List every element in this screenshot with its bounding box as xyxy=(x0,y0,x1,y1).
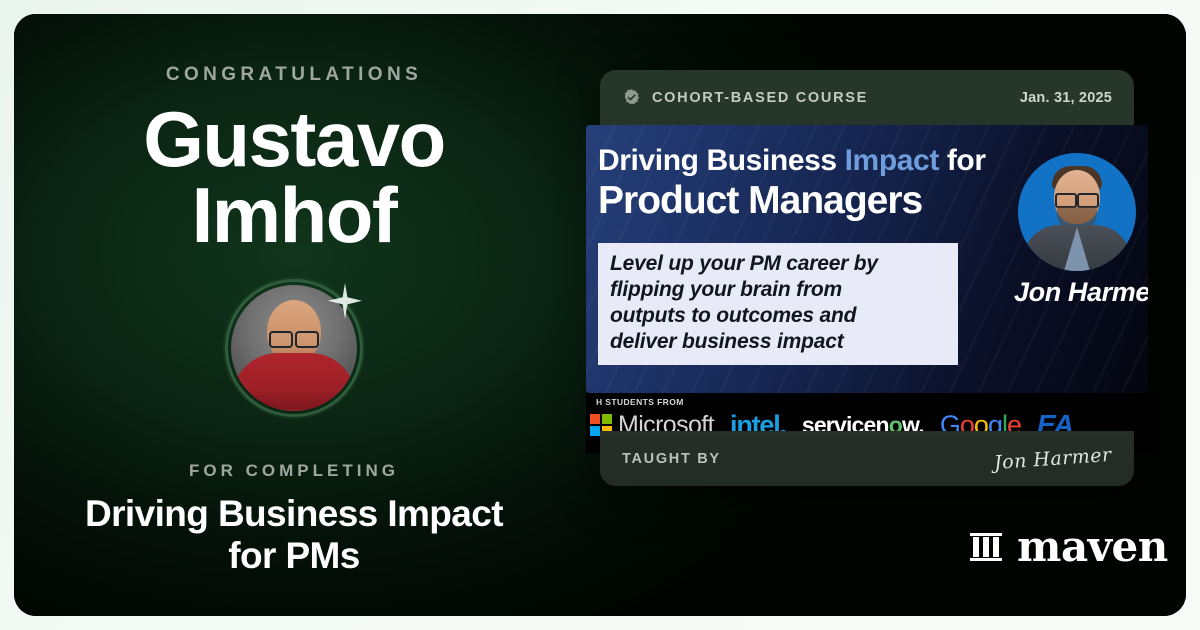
thumbnail-title: Driving Business Impact for Product Mana… xyxy=(598,145,1028,223)
thumbnail-instructor: Jon Harmer xyxy=(1014,153,1140,308)
thumbnail-subtitle-line: deliver business impact xyxy=(610,329,948,355)
taught-by-label: TAUGHT BY xyxy=(622,451,721,467)
course-card-footer: TAUGHT BY Jon Harmer xyxy=(600,431,1134,486)
course-date: Jan. 31, 2025 xyxy=(1020,90,1112,106)
thumbnail-title-accent: Impact xyxy=(845,144,939,177)
thumbnail-title-part1: Driving Business xyxy=(598,144,845,177)
recipient-avatar xyxy=(225,279,363,417)
maven-columns-icon xyxy=(969,530,1003,564)
instructor-name: Jon Harmer xyxy=(1014,277,1140,308)
thumbnail-title-part2: for xyxy=(939,144,986,177)
thumbnail-subtitle-line: outputs to outcomes and xyxy=(610,303,948,329)
congratulations-label: CONGRATULATIONS xyxy=(166,64,422,86)
instructor-signature: Jon Harmer xyxy=(994,443,1113,473)
certificate-left-panel: CONGRATULATIONS Gustavo Imhof FOR COMPLE… xyxy=(14,14,574,616)
maven-wordmark: maven xyxy=(1017,526,1168,568)
avatar-ring xyxy=(225,279,363,417)
thumbnail-title-line2: Product Managers xyxy=(598,180,1028,222)
course-thumbnail: Driving Business Impact for Product Mana… xyxy=(586,125,1148,393)
instructor-photo xyxy=(1018,153,1136,271)
course-card-header: COHORT-BASED COURSE Jan. 31, 2025 xyxy=(600,70,1134,125)
maven-logo[interactable]: maven xyxy=(969,526,1168,568)
thumbnail-subtitle: Level up your PM career by flipping your… xyxy=(598,243,958,365)
course-preview-card[interactable]: COHORT-BASED COURSE Jan. 31, 2025 Drivin… xyxy=(600,70,1134,486)
for-completing-label: FOR COMPLETING xyxy=(189,461,399,481)
course-kicker: COHORT-BASED COURSE xyxy=(652,90,868,106)
instructor-glasses-shape xyxy=(1055,193,1099,204)
thumbnail-subtitle-line: Level up your PM career by xyxy=(610,251,948,277)
thumbnail-subtitle-line: flipping your brain from xyxy=(610,277,948,303)
course-title: Driving Business Impact for PMs xyxy=(69,493,519,576)
certificate-card: CONGRATULATIONS Gustavo Imhof FOR COMPLE… xyxy=(14,14,1186,616)
verified-badge-icon xyxy=(622,88,641,107)
logo-strip-kicker: H STUDENTS FROM xyxy=(596,397,684,407)
recipient-name: Gustavo Imhof xyxy=(34,102,554,253)
